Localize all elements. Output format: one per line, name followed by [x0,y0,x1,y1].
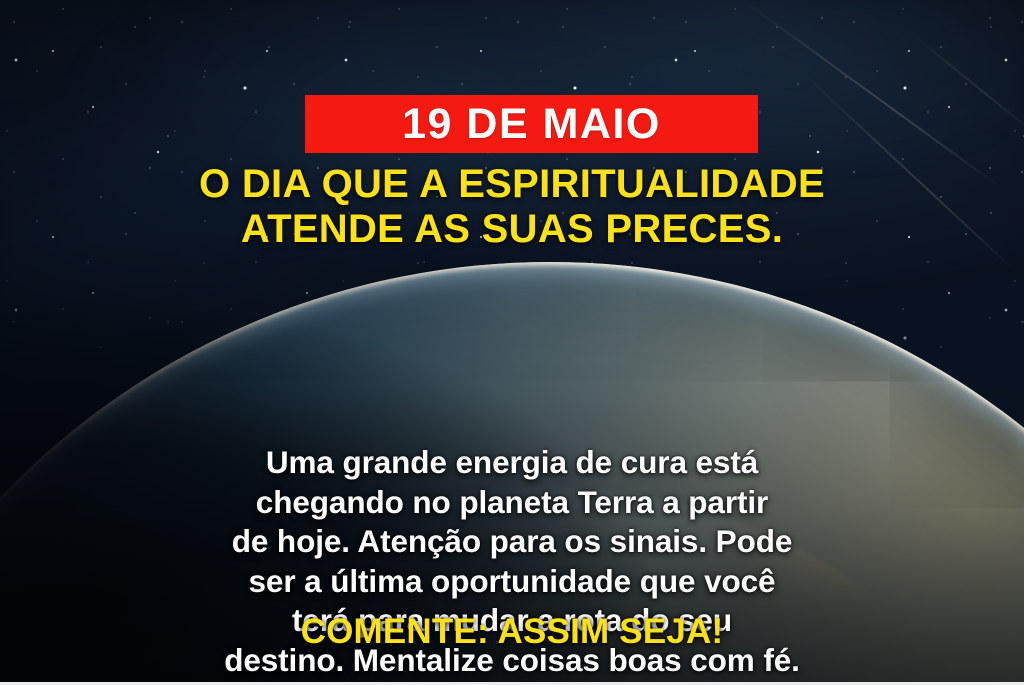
headline: O DIA QUE A ESPIRITUALIDADE ATENDE AS SU… [0,162,1024,252]
body-line: ser a última oportunidade que você [52,562,972,602]
call-to-action-label: COMENTE: ASSIM SEJA! [0,612,1024,652]
body-line: Uma grande energia de cura está [52,443,972,483]
date-banner: 19 DE MAIO [305,95,758,153]
headline-line-2: ATENDE AS SUAS PRECES. [40,207,984,252]
body-line: de hoje. Atenção para os sinais. Pode [52,522,972,562]
body-line: chegando no planeta Terra a partir [52,483,972,523]
poster-content: 19 DE MAIO O DIA QUE A ESPIRITUALIDADE A… [0,0,1024,685]
headline-line-1: O DIA QUE A ESPIRITUALIDADE [199,162,825,206]
date-banner-label: 19 DE MAIO [402,103,661,146]
poster-canvas: 19 DE MAIO O DIA QUE A ESPIRITUALIDADE A… [0,0,1024,685]
